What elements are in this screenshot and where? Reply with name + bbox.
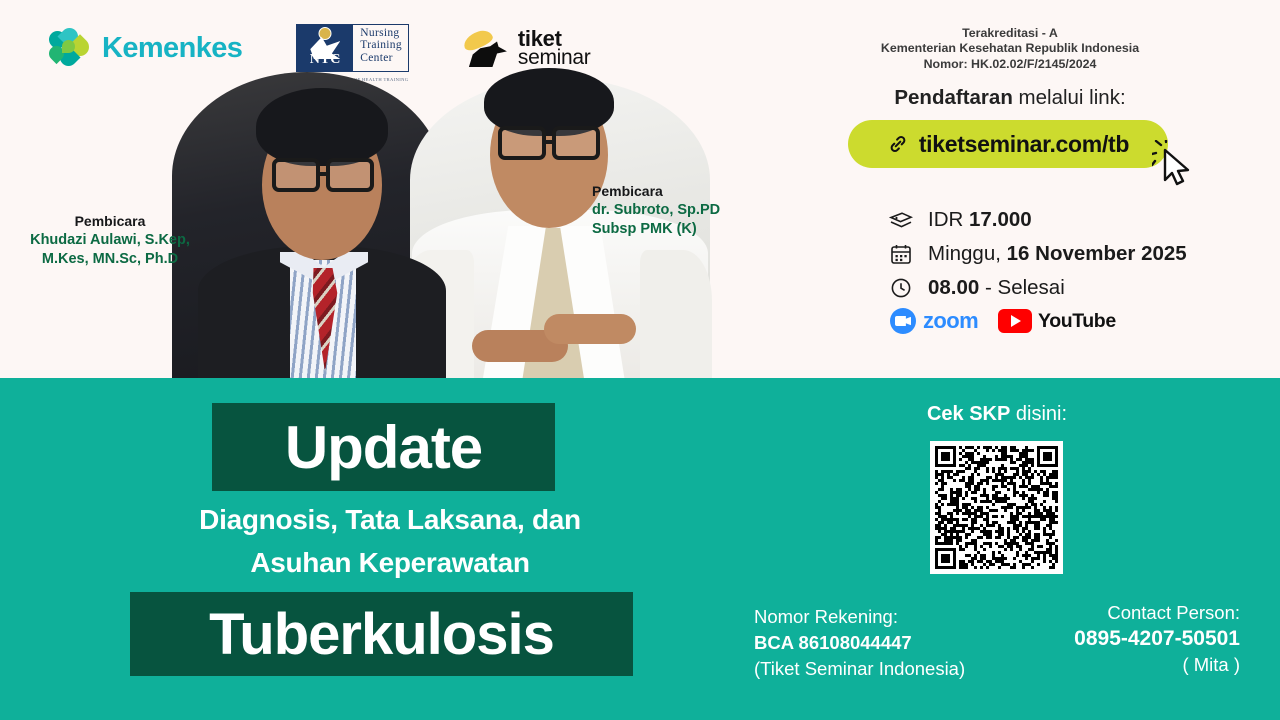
zoom-label: zoom xyxy=(923,308,978,334)
qr-code-canvas xyxy=(935,446,1058,569)
calendar-icon xyxy=(888,243,914,265)
speaker-label-right: Pembicara dr. Subroto, Sp.PD Subsp PMK (… xyxy=(592,182,822,239)
zoom-logo: zoom xyxy=(890,308,978,334)
detail-row-time: 08.00 - Selesai xyxy=(888,272,1248,304)
skp-heading: Cek SKP disini: xyxy=(852,403,1142,426)
registration-heading-rest: melalui link: xyxy=(1013,86,1126,109)
speaker-left-name-1: Khudazi Aulawi, S.Kep, xyxy=(10,231,210,250)
date-text: Minggu, 16 November 2025 xyxy=(928,242,1187,266)
bank-account-block: Nomor Rekening: BCA 86108044447 (Tiket S… xyxy=(754,604,965,682)
title-subtitle: Diagnosis, Tata Laksana, dan Asuhan Kepe… xyxy=(110,498,670,584)
title-badge-tuberkulosis: Tuberkulosis xyxy=(130,592,633,676)
ntc-line-1: Nursing xyxy=(360,27,402,39)
clock-icon xyxy=(888,277,914,299)
bank-account-holder: (Tiket Seminar Indonesia) xyxy=(754,656,965,682)
skp-heading-rest: disini: xyxy=(1010,403,1067,425)
subtitle-line-1: Diagnosis, Tata Laksana, dan xyxy=(110,498,670,541)
kemenkes-wordmark: Kemenkes xyxy=(102,32,242,65)
registration-heading: Pendaftaran melalui link: xyxy=(820,86,1200,110)
speaker-right-name-2: Subsp PMK (K) xyxy=(592,220,822,239)
registration-link-label: tiketseminar.com/tb xyxy=(919,131,1129,158)
youtube-label: YouTube xyxy=(1038,310,1116,333)
ntc-line-2: Training xyxy=(360,39,402,51)
mouse-cursor-icon xyxy=(1152,140,1198,188)
accreditation-line-1: Terakreditasi - A xyxy=(820,26,1200,41)
kemenkes-flower-icon xyxy=(48,28,90,68)
title-tuberkulosis-text: Tuberkulosis xyxy=(209,601,554,668)
contact-person-number: 0895-4207-50501 xyxy=(1074,626,1240,652)
youtube-play-icon xyxy=(998,309,1032,333)
subtitle-line-2: Asuhan Keperawatan xyxy=(110,541,670,584)
contact-person-block: Contact Person: 0895-4207-50501 ( Mita ) xyxy=(1074,600,1240,678)
time-text: 08.00 - Selesai xyxy=(928,276,1065,300)
detail-row-price: IDR 17.000 xyxy=(888,204,1248,236)
ticket-icon xyxy=(888,210,914,230)
accreditation-line-3: Nomor: HK.02.02/F/2145/2024 xyxy=(820,57,1200,72)
accreditation-block: Terakreditasi - A Kementerian Kesehatan … xyxy=(820,26,1200,72)
speaker-right-name-1: dr. Subroto, Sp.PD xyxy=(592,201,822,220)
seminar-poster: Kemenkes NTC Nursing Training Center LEA… xyxy=(0,0,1280,720)
price-text: IDR 17.000 xyxy=(928,208,1032,232)
event-details: IDR 17.000 Minggu, 16 November 2025 xyxy=(888,204,1248,306)
contact-person-label: Contact Person: xyxy=(1074,600,1240,626)
registration-link-button[interactable]: tiketseminar.com/tb xyxy=(848,120,1168,168)
speaker-left-role: Pembicara xyxy=(10,212,210,231)
title-badge-update: Update xyxy=(212,403,555,491)
accreditation-line-2: Kementerian Kesehatan Republik Indonesia xyxy=(820,41,1200,56)
bank-account-label: Nomor Rekening: xyxy=(754,604,965,630)
contact-person-name: ( Mita ) xyxy=(1074,652,1240,678)
link-icon xyxy=(887,133,909,155)
registration-heading-bold: Pendaftaran xyxy=(894,86,1012,109)
speaker-right-role: Pembicara xyxy=(592,182,822,201)
title-update-text: Update xyxy=(285,413,482,482)
zoom-camera-icon xyxy=(890,308,916,334)
platform-logos: zoom YouTube xyxy=(890,308,1116,334)
speaker-label-left: Pembicara Khudazi Aulawi, S.Kep, M.Kes, … xyxy=(10,212,210,269)
bank-account-number: BCA 86108044447 xyxy=(754,632,912,653)
detail-row-date: Minggu, 16 November 2025 xyxy=(888,238,1248,270)
skp-qr-code[interactable] xyxy=(930,441,1063,574)
speaker-left-name-2: M.Kes, MN.Sc, Ph.D xyxy=(10,250,210,269)
youtube-logo: YouTube xyxy=(998,309,1116,333)
skp-heading-bold: Cek SKP xyxy=(927,403,1010,425)
